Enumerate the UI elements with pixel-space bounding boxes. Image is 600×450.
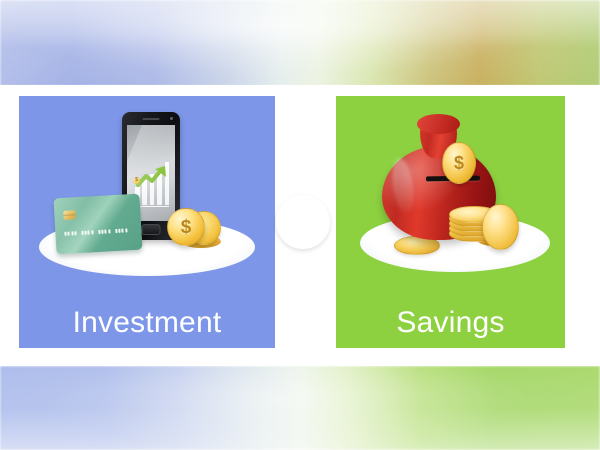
chart-bar — [150, 174, 155, 205]
credit-card-number-group — [81, 230, 93, 234]
growth-chart-icon: $ — [135, 159, 169, 205]
phone-home-button — [142, 224, 161, 235]
phone-camera — [170, 117, 173, 120]
vs-badge-label: VS — [286, 209, 320, 235]
infographic-stage: $ $ — [0, 0, 600, 450]
pot-dollar-coin-icon: $ — [442, 142, 476, 184]
background-band-bottom — [0, 366, 600, 450]
vs-badge: VS — [276, 195, 330, 249]
up-trend-arrow-icon — [135, 165, 169, 195]
credit-card-number-group — [64, 231, 76, 235]
credit-card-icon — [54, 194, 143, 255]
background-band-top — [0, 0, 600, 86]
panel-label-savings: Savings — [336, 308, 565, 338]
credit-card-number-group — [98, 229, 110, 233]
credit-card-number — [64, 228, 127, 235]
panel-label-investment: Investment — [19, 308, 275, 338]
chart-bar — [142, 180, 147, 205]
credit-card-chip — [63, 210, 75, 220]
savings-illustration: $ — [336, 96, 565, 296]
panel-savings[interactable]: $ Savings — [336, 96, 565, 348]
coin-dollar-symbol: $ — [181, 218, 192, 237]
panel-investment[interactable]: $ $ — [19, 96, 275, 348]
pot-neck-top — [417, 114, 460, 134]
phone-speaker — [143, 118, 160, 120]
chart-dollar-coin-icon: $ — [133, 177, 140, 184]
credit-card-number-group — [115, 228, 127, 232]
coin-standing — [482, 204, 519, 250]
coin-front-dollar: $ — [167, 208, 205, 246]
investment-illustration: $ $ — [19, 96, 275, 296]
coin-dollar-symbol: $ — [454, 154, 464, 172]
